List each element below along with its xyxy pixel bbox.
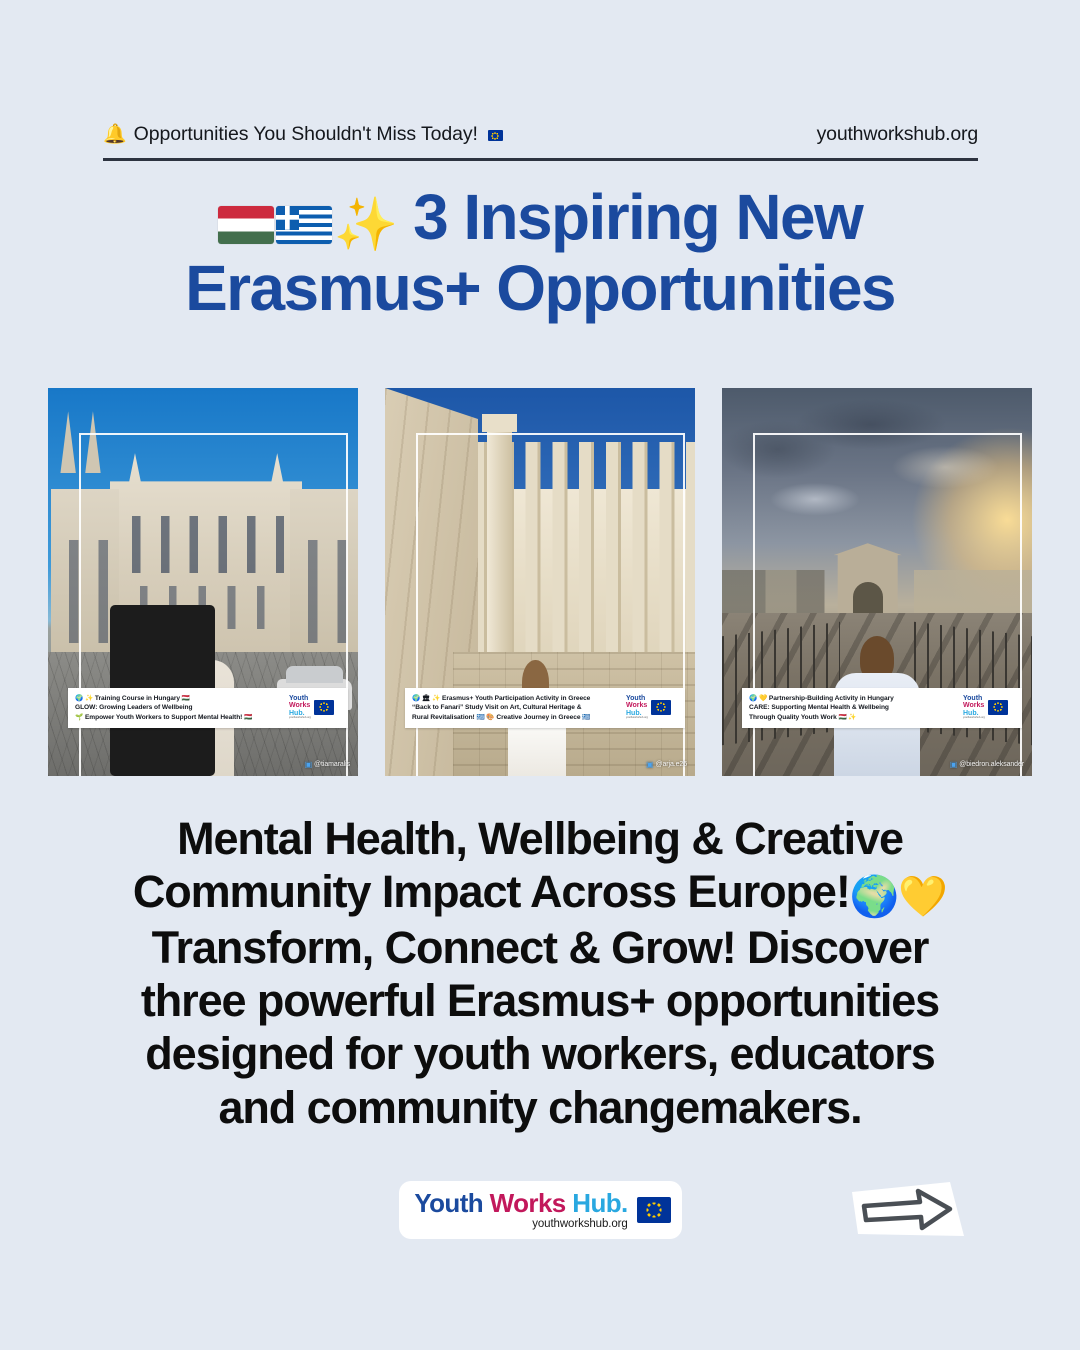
bell-icon: 🔔 <box>103 125 127 144</box>
card-3-caption-text: 🌍 💛 Partnership-Building Activity in Hun… <box>749 694 959 722</box>
body-line-2: Community Impact Across Europe!🌍💛 <box>56 865 1024 921</box>
body-line-5: designed for youth workers, educators <box>56 1027 1024 1080</box>
card-3-brand-logo: Youth Works Hub. youthworkshub.org <box>963 694 1015 720</box>
opportunity-cards-row: 🌍 ✨ Training Course in Hungary 🇭🇺 GLOW: … <box>48 388 1033 776</box>
card-1-caption-line-3: 🌱 Empower Youth Workers to Support Menta… <box>75 713 285 722</box>
title-line-2: Erasmus+ Opportunities <box>0 257 1080 320</box>
swipe-right-arrow-icon[interactable] <box>846 1178 970 1240</box>
instagram-icon: ▣ <box>950 760 957 769</box>
card-3-logo-youth: Youth <box>963 695 985 702</box>
body-line-6: and community changemakers. <box>56 1081 1024 1134</box>
card-2-caption: 🌍 🏛 ✨ Erasmus+ Youth Participation Activ… <box>405 688 685 728</box>
sparkles-icon: ✨ <box>334 196 397 254</box>
card-1-caption: 🌍 ✨ Training Course in Hungary 🇭🇺 GLOW: … <box>68 688 348 728</box>
header-website-url: youthworkshub.org <box>817 123 978 146</box>
opportunity-card-1[interactable]: 🌍 ✨ Training Course in Hungary 🇭🇺 GLOW: … <box>48 388 358 776</box>
body-line-2-text: Community Impact Across Europe! <box>133 866 850 917</box>
card-2-logo-url: youthworkshub.org <box>626 717 648 720</box>
eu-flag-icon <box>988 700 1008 715</box>
card-3-credit: ▣ @biedron.aleksander <box>950 760 1024 769</box>
card-3-caption-line-2: CARE: Supporting Mental Health & Wellbei… <box>749 703 959 712</box>
footer-brand-badge[interactable]: Youth Works Hub. youthworkshub.org <box>399 1181 682 1239</box>
footer-logo-url: youthworkshub.org <box>414 1218 627 1230</box>
title-line-1: ✨ 3 Inspiring New <box>0 186 1080 251</box>
card-2-logo-youth: Youth <box>626 695 648 702</box>
top-header-bar: 🔔 Opportunities You Shouldn't Miss Today… <box>103 123 978 161</box>
card-2-caption-line-2: “Back to Fanari” Study Visit on Art, Cul… <box>412 703 622 712</box>
eu-flag-icon <box>651 700 671 715</box>
card-1-credit: ▣ @tiamaralis <box>305 760 350 769</box>
header-headline: Opportunities You Shouldn't Miss Today! <box>134 123 478 146</box>
card-3-caption: 🌍 💛 Partnership-Building Activity in Hun… <box>742 688 1022 728</box>
card-3-logo-works: Works <box>963 702 985 709</box>
card-3-logo-url: youthworkshub.org <box>963 717 985 720</box>
card-1-logo-url: youthworkshub.org <box>289 717 311 720</box>
page-title: ✨ 3 Inspiring New Erasmus+ Opportunities <box>0 186 1080 320</box>
footer-logo-youth: Youth <box>414 1188 483 1218</box>
card-2-caption-line-1: 🌍 🏛 ✨ Erasmus+ Youth Participation Activ… <box>412 694 622 703</box>
card-2-brand-logo: Youth Works Hub. youthworkshub.org <box>626 694 678 720</box>
card-3-credit-handle: @biedron.aleksander <box>959 761 1024 768</box>
greece-flag-icon <box>276 206 332 244</box>
card-1-brand-logo: Youth Works Hub. youthworkshub.org <box>289 694 341 720</box>
instagram-icon: ▣ <box>646 760 653 769</box>
eu-flag-icon <box>488 130 503 141</box>
footer-logo-works: Works <box>490 1188 566 1218</box>
opportunity-card-2[interactable]: 🌍 🏛 ✨ Erasmus+ Youth Participation Activ… <box>385 388 695 776</box>
card-1-logo-youth: Youth <box>289 695 311 702</box>
body-line-4: three powerful Erasmus+ opportunities <box>56 974 1024 1027</box>
card-3-caption-line-3: Through Quality Youth Work 🇭🇺 ✨ <box>749 713 959 722</box>
card-2-credit-handle: @arja.e26 <box>655 761 687 768</box>
instagram-icon: ▣ <box>305 760 312 769</box>
body-line-3: Transform, Connect & Grow! Discover <box>56 921 1024 974</box>
card-1-caption-line-2: GLOW: Growing Leaders of Wellbeing <box>75 703 285 712</box>
card-1-logo-works: Works <box>289 702 311 709</box>
card-2-credit: ▣ @arja.e26 <box>646 760 687 769</box>
card-1-credit-handle: @tiamaralis <box>314 761 350 768</box>
eu-flag-icon <box>314 700 334 715</box>
opportunity-card-3[interactable]: 🌍 💛 Partnership-Building Activity in Hun… <box>722 388 1032 776</box>
hungary-flag-icon <box>218 206 274 244</box>
header-left-group: 🔔 Opportunities You Shouldn't Miss Today… <box>103 123 503 146</box>
card-2-caption-text: 🌍 🏛 ✨ Erasmus+ Youth Participation Activ… <box>412 694 622 722</box>
footer-logo-hub: Hub. <box>572 1188 627 1218</box>
footer-logo-main: Youth Works Hub. <box>414 1190 627 1216</box>
footer-logo-words: Youth Works Hub. youthworkshub.org <box>414 1190 627 1230</box>
eu-flag-icon <box>637 1197 671 1223</box>
card-2-caption-line-3: Rural Revitalisation! 🇬🇷 🎨 Creative Jour… <box>412 713 622 722</box>
body-line-1: Mental Health, Wellbeing & Creative <box>56 812 1024 865</box>
title-text-1: 3 Inspiring New <box>413 181 862 253</box>
card-1-caption-line-1: 🌍 ✨ Training Course in Hungary 🇭🇺 <box>75 694 285 703</box>
card-2-logo-works: Works <box>626 702 648 709</box>
globe-heart-emoji: 🌍💛 <box>850 875 947 919</box>
body-description: Mental Health, Wellbeing & Creative Comm… <box>56 812 1024 1134</box>
card-1-caption-text: 🌍 ✨ Training Course in Hungary 🇭🇺 GLOW: … <box>75 694 285 722</box>
card-3-caption-line-1: 🌍 💛 Partnership-Building Activity in Hun… <box>749 694 959 703</box>
